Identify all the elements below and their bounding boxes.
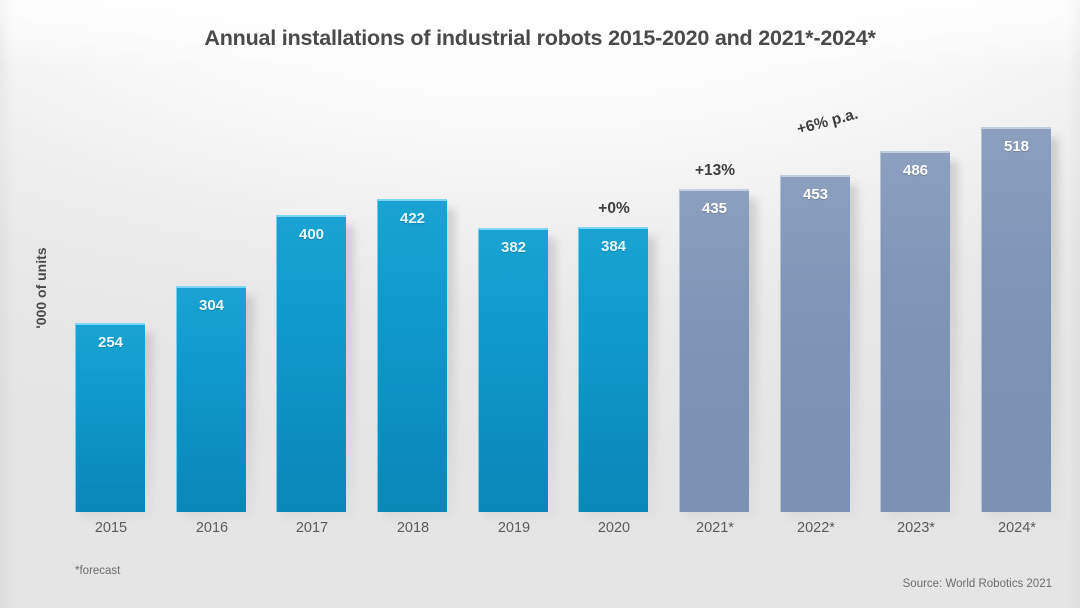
x-axis-tick-2016: 2016 xyxy=(165,520,259,536)
bar-2022-forecast[interactable]: 453 xyxy=(780,175,850,512)
bar-2016[interactable]: 304 xyxy=(176,286,246,512)
x-axis-tick-2017: 2017 xyxy=(265,520,359,536)
bar-slot: 486 xyxy=(869,96,963,512)
bar-value-label: 400 xyxy=(277,226,346,243)
growth-annotation-2020: +0% xyxy=(567,200,661,218)
bar-2018[interactable]: 422 xyxy=(377,199,447,512)
bar-slot: 435+13% xyxy=(668,96,762,512)
page-title: Annual installations of industrial robot… xyxy=(0,26,1080,51)
x-axis-tick-2018: 2018 xyxy=(366,520,460,536)
bar-2023-forecast[interactable]: 486 xyxy=(880,151,950,512)
plot-area: 254304400422382384+0%435+13%453+6% p.a.4… xyxy=(64,96,1064,512)
bar-value-label: 518 xyxy=(982,138,1051,155)
bar-value-label: 453 xyxy=(781,186,850,203)
growth-annotation-cagr: +6% p.a. xyxy=(780,101,875,143)
growth-annotation-2021-forecast: +13% xyxy=(668,162,762,180)
bar-value-label: 304 xyxy=(177,297,246,314)
x-axis-tick-2022-forecast: 2022* xyxy=(769,520,863,536)
x-axis: 2015201620172018201920202021*2022*2023*2… xyxy=(64,520,1064,544)
bar-slot: 518 xyxy=(970,96,1064,512)
bar-slot: 453+6% p.a. xyxy=(769,96,863,512)
bar-value-label: 435 xyxy=(680,200,749,217)
bar-value-label: 486 xyxy=(881,162,950,179)
bar-2020[interactable]: 384 xyxy=(578,227,648,512)
bar-slot: 384+0% xyxy=(567,96,661,512)
footnote-forecast: *forecast xyxy=(75,565,120,577)
x-axis-tick-2023-forecast: 2023* xyxy=(869,520,963,536)
bar-value-label: 382 xyxy=(479,239,548,256)
x-axis-tick-2019: 2019 xyxy=(467,520,561,536)
bar-value-label: 384 xyxy=(579,238,648,255)
x-axis-tick-2020: 2020 xyxy=(567,520,661,536)
source-note: Source: World Robotics 2021 xyxy=(903,578,1052,590)
x-axis-tick-2015: 2015 xyxy=(64,520,158,536)
bar-slot: 422 xyxy=(366,96,460,512)
bar-value-label: 422 xyxy=(378,210,447,227)
bar-2021-forecast[interactable]: 435 xyxy=(679,189,749,512)
bar-2017[interactable]: 400 xyxy=(276,215,346,512)
bar-slot: 400 xyxy=(265,96,359,512)
bar-2024-forecast[interactable]: 518 xyxy=(981,127,1051,512)
x-axis-tick-2024-forecast: 2024* xyxy=(970,520,1064,536)
bar-slot: 382 xyxy=(467,96,561,512)
bar-slot: 304 xyxy=(165,96,259,512)
y-axis-label: '000 of units xyxy=(30,228,52,348)
x-axis-tick-2021-forecast: 2021* xyxy=(668,520,762,536)
bar-slot: 254 xyxy=(64,96,158,512)
bar-value-label: 254 xyxy=(76,334,145,351)
chart-canvas: Annual installations of industrial robot… xyxy=(0,0,1080,608)
bar-2015[interactable]: 254 xyxy=(75,323,145,512)
bar-2019[interactable]: 382 xyxy=(478,228,548,512)
y-axis-label-text: '000 of units xyxy=(33,247,49,328)
